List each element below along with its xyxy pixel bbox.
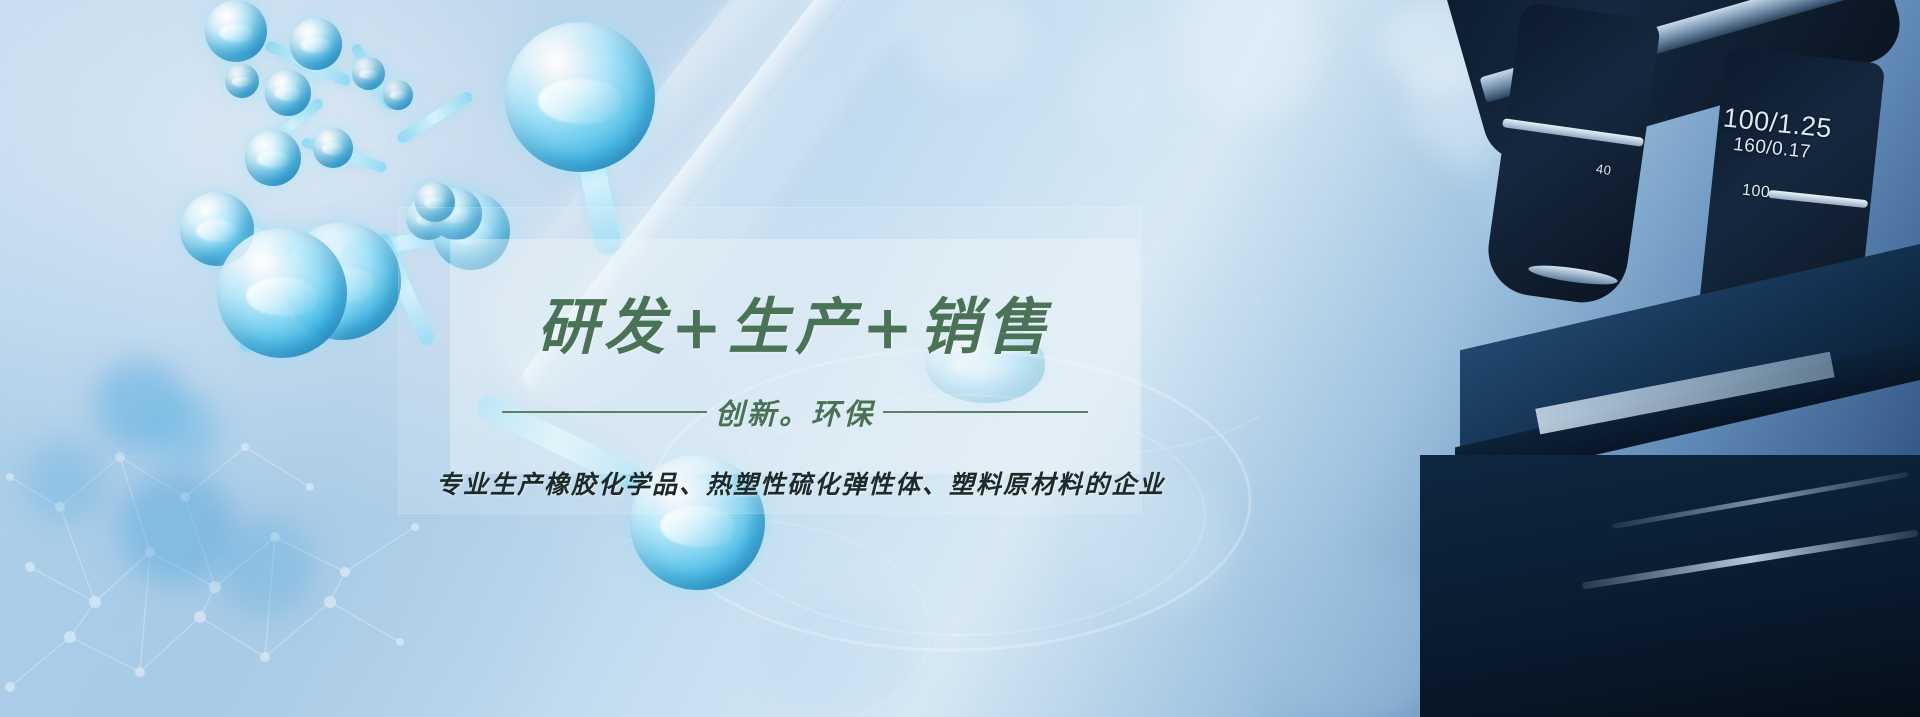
blurred-molecule [25,440,105,520]
molecule-atom [205,0,267,62]
microscope-label-100: 100 [1741,182,1771,203]
hero-banner: 40 100/1.25 160/0.17 100 [0,0,1920,717]
blurred-molecule [150,395,220,465]
microscope-label-40: 40 [1595,161,1612,178]
molecule-atom [265,70,311,116]
blurred-molecule [220,520,315,615]
hero-text-block: 研发+生产+销售 创新。环保 专业生产橡胶化学品、热塑性硫化弹性体、塑料原材料的… [450,239,1140,529]
divider-line-left [502,411,707,413]
subtitle: 创新。环保 [715,391,875,433]
molecule-atom [313,128,353,168]
molecule-atom [225,64,259,98]
microscope-base [1420,455,1920,717]
microscope: 40 100/1.25 160/0.17 100 [1280,0,1920,717]
tagline: 专业生产橡胶化学品、热塑性硫化弹性体、塑料原材料的企业 [436,465,1126,501]
molecule-atom [505,22,655,172]
subtitle-divider-row: 创新。环保 [450,391,1140,433]
molecule-atom [352,57,385,90]
molecule-atom [290,18,342,70]
molecule-atom [383,80,413,110]
page-title: 研发+生产+销售 [450,297,1140,358]
molecule-atom [217,228,347,358]
molecule-atom [245,130,301,186]
blurred-molecule [120,470,235,585]
divider-line-right [883,411,1088,413]
bokeh-blob [1075,40,1180,145]
bokeh-blob [900,0,1030,90]
